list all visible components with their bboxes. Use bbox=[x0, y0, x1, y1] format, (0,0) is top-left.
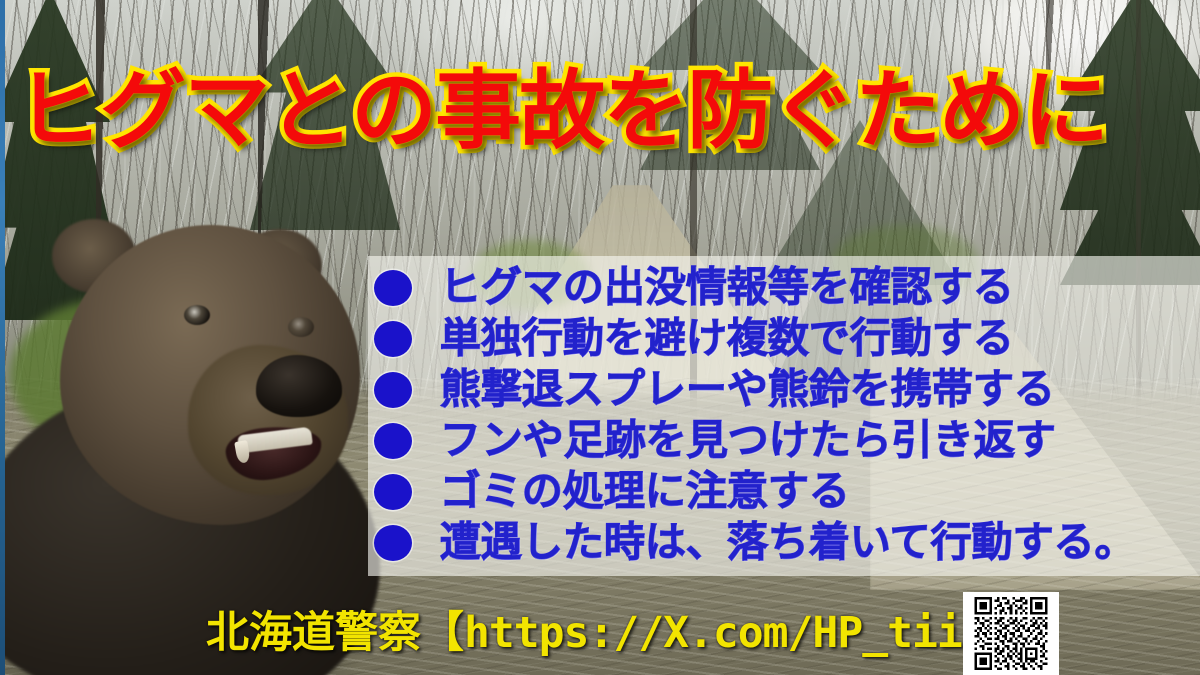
footer-url[interactable]: https://X.com/HP_tiiki bbox=[464, 608, 1012, 658]
advice-list: ヒグマの出没情報等を確認する 単独行動を避け複数で行動する 熊撃退スプレーや熊鈴… bbox=[374, 262, 1194, 568]
list-item-label: 熊撃退スプレーや熊鈴を携帯する bbox=[440, 369, 1055, 410]
bear-eye-right bbox=[288, 317, 314, 337]
list-item: ゴミの処理に注意する bbox=[374, 466, 1194, 517]
list-item-label: ヒグマの出没情報等を確認する bbox=[440, 267, 1014, 308]
list-item-label: 遭遇した時は、落ち着いて行動する。 bbox=[440, 522, 1136, 563]
bullet-dot-icon bbox=[374, 270, 412, 306]
qr-code-icon[interactable] bbox=[963, 592, 1059, 675]
bullet-dot-icon bbox=[374, 474, 412, 510]
footer-organization: 北海道警察 bbox=[206, 608, 421, 658]
bullet-dot-icon bbox=[374, 525, 412, 561]
page-title: ヒグマとの事故を防ぐために bbox=[16, 68, 1186, 156]
left-edge-strip bbox=[0, 0, 5, 675]
poster-canvas: ヒグマとの事故を防ぐために ヒグマの出没情報等を確認する 単独行動を避け複数で行… bbox=[0, 0, 1200, 675]
bullet-dot-icon bbox=[374, 372, 412, 408]
footer-credit: 北海道警察【https://X.com/HP_tiiki】 bbox=[206, 612, 1055, 655]
bullet-dot-icon bbox=[374, 321, 412, 357]
bear-eye-left bbox=[184, 305, 210, 325]
list-item: 熊撃退スプレーや熊鈴を携帯する bbox=[374, 364, 1194, 415]
brown-bear bbox=[0, 205, 430, 675]
list-item: 単独行動を避け複数で行動する bbox=[374, 313, 1194, 364]
list-item-label: ゴミの処理に注意する bbox=[440, 471, 850, 512]
footer-bracket-open: 【 bbox=[421, 608, 464, 658]
list-item: 遭遇した時は、落ち着いて行動する。 bbox=[374, 517, 1194, 568]
bullet-dot-icon bbox=[374, 423, 412, 459]
bear-nose bbox=[256, 355, 342, 417]
list-item: フンや足跡を見つけたら引き返す bbox=[374, 415, 1194, 466]
list-item-label: 単独行動を避け複数で行動する bbox=[440, 318, 1014, 359]
list-item: ヒグマの出没情報等を確認する bbox=[374, 262, 1194, 313]
list-item-label: フンや足跡を見つけたら引き返す bbox=[440, 420, 1056, 461]
